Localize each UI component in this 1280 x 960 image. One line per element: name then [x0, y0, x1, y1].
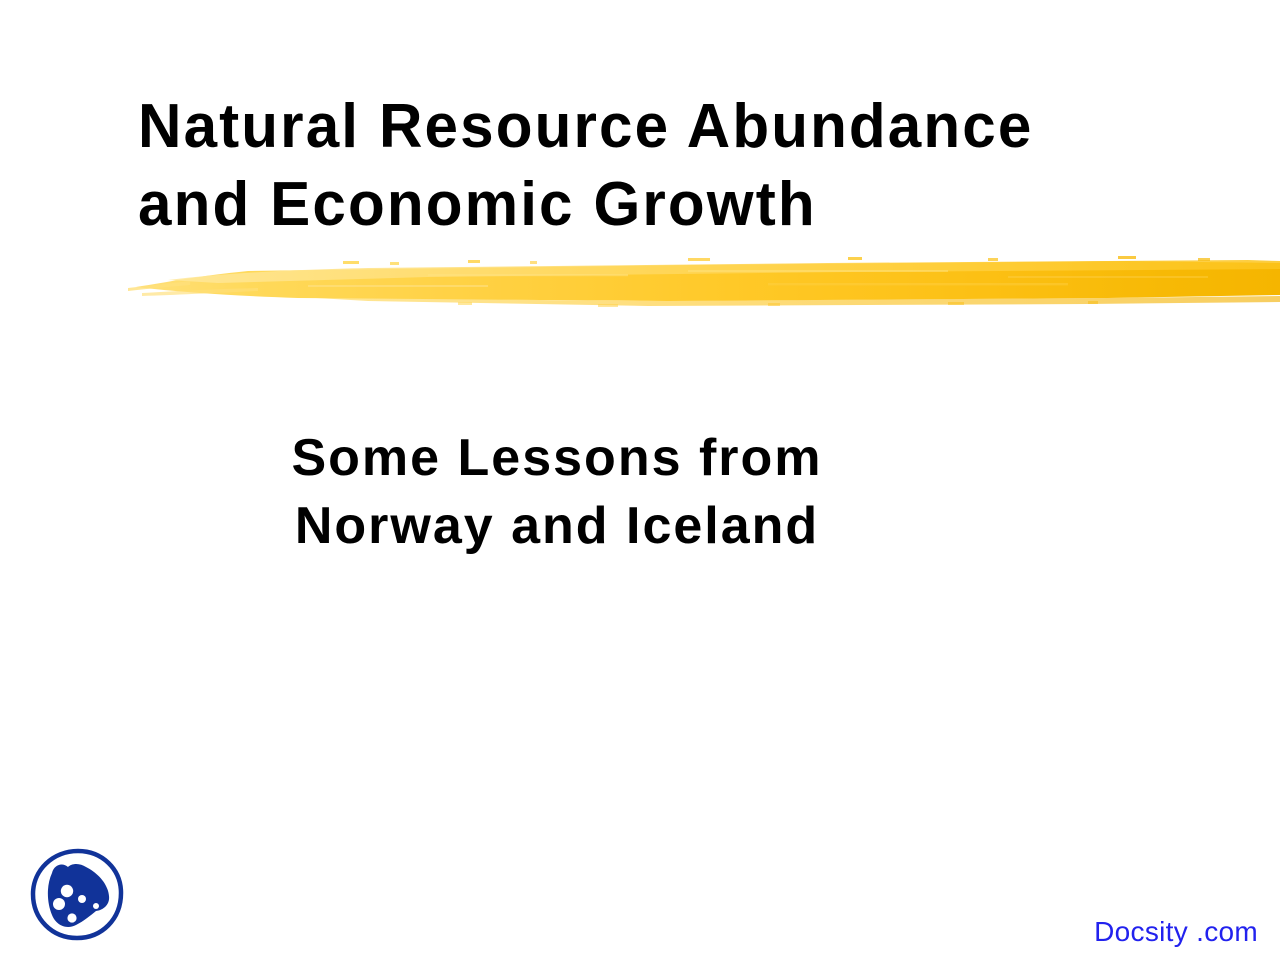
- title-line-2: and Economic Growth: [138, 166, 1186, 244]
- subtitle-line-2: Norway and Iceland: [0, 492, 1280, 560]
- presentation-slide: Natural Resource Abundance and Economic …: [0, 0, 1280, 960]
- docsity-wordmark: Docsity .com: [1094, 916, 1258, 948]
- subtitle-line-1: Some Lessons from: [0, 424, 1280, 492]
- page-subtitle: Some Lessons from Norway and Iceland: [0, 424, 1280, 560]
- docsity-logo: [28, 846, 128, 948]
- docsity-logo-icon: [28, 846, 128, 948]
- brush-stroke-divider: [128, 252, 1280, 310]
- title-line-1: Natural Resource Abundance: [138, 88, 1186, 166]
- brush-stroke-icon: [128, 252, 1280, 310]
- page-title: Natural Resource Abundance and Economic …: [138, 88, 1218, 244]
